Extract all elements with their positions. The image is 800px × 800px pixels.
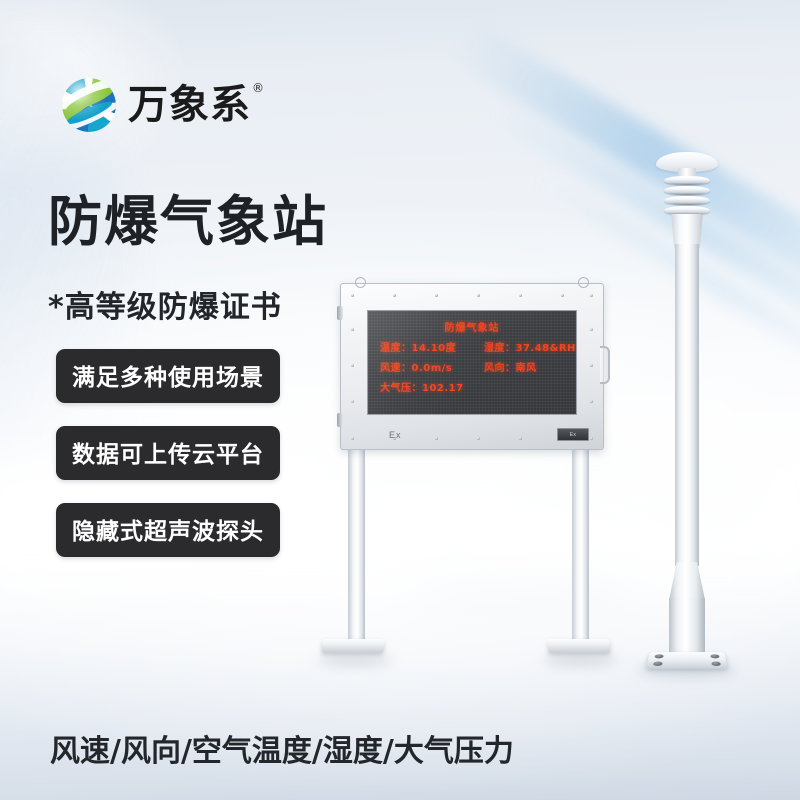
base-bolt-hole xyxy=(710,654,719,658)
nameplate-text: Ex xyxy=(570,432,576,438)
led-readings-grid: 温度：14.10度 湿度：37.48&RH 风速：0.0m/s 风向：南风 大气… xyxy=(380,339,568,394)
shield-louver xyxy=(664,196,710,205)
base-bolt-hole xyxy=(653,662,663,666)
shield-louver xyxy=(664,186,710,195)
stand-leg-right xyxy=(572,433,589,643)
led-screen-title: 防爆气象站 xyxy=(368,319,576,334)
lifting-eye-left-icon xyxy=(355,277,366,288)
enclosure-nameplate: Ex xyxy=(557,428,589,441)
mast-pole xyxy=(675,244,699,566)
enclosure-bolt xyxy=(590,328,593,331)
led-reading-temperature: 温度：14.10度 xyxy=(380,339,484,354)
enclosure-bolt xyxy=(351,400,354,403)
led-reading-humidity: 湿度：37.48&RH xyxy=(484,339,576,354)
enclosure-bolt xyxy=(435,294,438,297)
stand-leg-left xyxy=(348,433,365,643)
feature-badge-2: 数据可上传云平台 xyxy=(56,426,280,480)
enclosure-bolt xyxy=(590,437,593,440)
display-station-product: 防爆气象站 温度：14.10度 湿度：37.48&RH 风速：0.0m/s 风向… xyxy=(326,283,616,673)
brand-name-text: 万象系 xyxy=(128,82,251,128)
lifting-eye-right-icon xyxy=(578,277,589,288)
product-poster: 万象系 ® 防爆气象站 *高等级防爆证书 满足多种使用场景 数据可上传云平台 隐… xyxy=(0,0,800,800)
feature-list: 满足多种使用场景 数据可上传云平台 隐藏式超声波探头 xyxy=(56,349,280,557)
enclosure-bolt xyxy=(590,364,593,367)
enclosure-bolt xyxy=(519,294,522,297)
ex-marking-label: Ex xyxy=(389,430,402,440)
sensor-body xyxy=(669,214,705,248)
enclosure-bolt xyxy=(519,437,522,440)
feature-badge-1: 满足多种使用场景 xyxy=(56,349,280,403)
bottom-banner-text: 风速/风向/空气温度/湿度/大气压力 xyxy=(50,726,514,770)
page-title: 防爆气象站 xyxy=(48,192,328,251)
led-display-screen: 防爆气象站 温度：14.10度 湿度：37.48&RH 风速：0.0m/s 风向… xyxy=(367,310,577,415)
enclosure-bolt xyxy=(351,364,354,367)
enclosure-bolt xyxy=(435,437,438,440)
radiation-shield-louvers-icon xyxy=(664,176,710,220)
enclosure-bolt xyxy=(590,294,593,297)
stand-foot-right xyxy=(548,639,611,653)
enclosure-bolt xyxy=(477,294,480,297)
enclosure-bolt xyxy=(351,437,354,440)
mast-pole-base xyxy=(669,598,705,660)
enclosure-bolt xyxy=(351,328,354,331)
led-reading-wind-direction: 风向：南风 xyxy=(484,359,576,374)
shield-louver xyxy=(664,206,710,215)
led-cell-empty xyxy=(484,379,576,394)
mast-pole-flare xyxy=(669,562,705,600)
mounting-base-plate-icon xyxy=(646,652,728,669)
led-reading-air-pressure: 大气压：102.17 xyxy=(380,379,484,394)
stand-foot-left xyxy=(322,639,385,653)
brand-name: 万象系 ® xyxy=(128,85,265,125)
sensor-mast-product xyxy=(628,152,748,674)
base-bolt-hole xyxy=(711,662,721,666)
led-reading-wind-speed: 风速：0.0m/s xyxy=(380,359,484,374)
base-bolt-hole xyxy=(654,654,663,658)
shield-louver xyxy=(664,176,710,185)
enclosure-bolt xyxy=(393,294,396,297)
enclosure-bolt xyxy=(561,294,564,297)
enclosure-bolt xyxy=(351,294,354,297)
globe-swirl-logo-icon xyxy=(62,78,116,132)
hinge-bottom-icon xyxy=(337,413,343,427)
explosion-proof-enclosure: 防爆气象站 温度：14.10度 湿度：37.48&RH 风速：0.0m/s 风向… xyxy=(340,283,604,450)
enclosure-bolt xyxy=(590,400,593,403)
logo-gloss xyxy=(62,78,116,132)
feature-badge-3: 隐藏式超声波探头 xyxy=(56,503,280,557)
hinge-top-icon xyxy=(337,306,343,320)
enclosure-bolt xyxy=(477,437,480,440)
door-handle-icon xyxy=(600,346,610,384)
brand-logo: 万象系 ® xyxy=(62,78,265,132)
page-subtitle: *高等级防爆证书 xyxy=(48,282,282,326)
registered-trademark-mark: ® xyxy=(252,82,265,94)
